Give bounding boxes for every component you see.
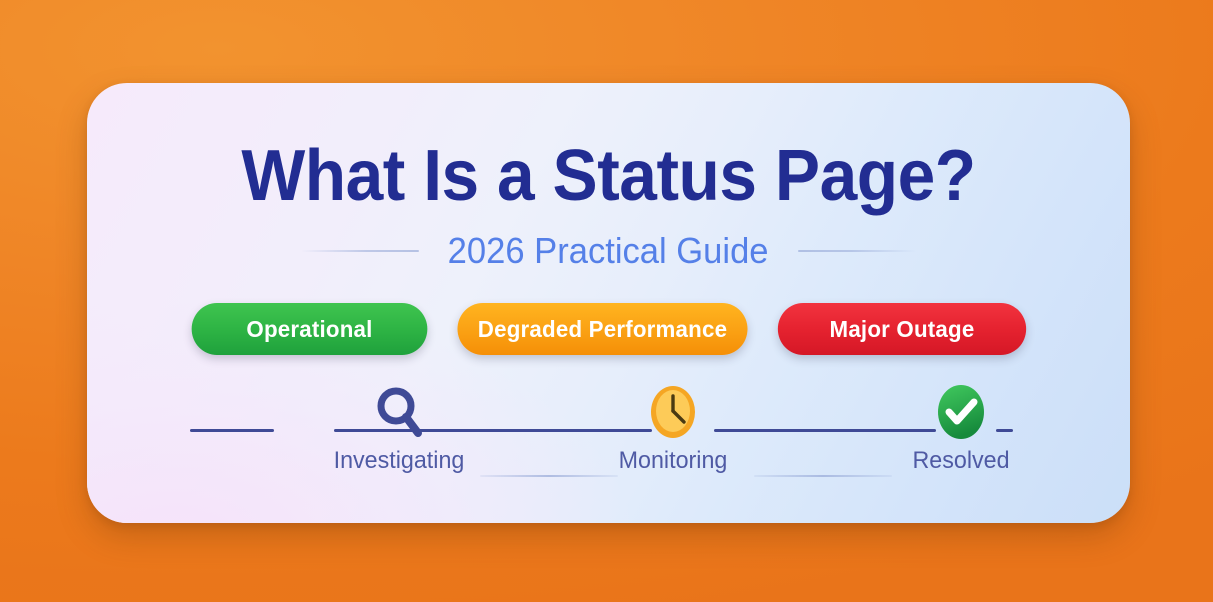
hero-card: What Is a Status Page? 2026 Practical Gu… xyxy=(87,83,1130,523)
page-subtitle: 2026 Practical Guide xyxy=(448,230,769,272)
timeline-label-connector xyxy=(754,475,892,477)
subtitle-rule-right xyxy=(798,250,916,252)
card-inner: What Is a Status Page? 2026 Practical Gu… xyxy=(87,83,1130,523)
check-circle-icon xyxy=(886,381,1036,443)
timeline-label-connector xyxy=(480,475,618,477)
page-title: What Is a Status Page? xyxy=(118,137,1098,215)
magnifier-icon xyxy=(324,381,474,443)
subtitle-row: 2026 Practical Guide xyxy=(87,230,1130,272)
timeline-step-resolved[interactable]: Resolved xyxy=(886,381,1036,475)
status-badge-operational[interactable]: Operational xyxy=(191,303,427,355)
timeline-line-segment xyxy=(190,429,274,432)
incident-timeline: Investigating Monitoring xyxy=(87,381,1130,491)
timeline-step-label-monitoring: Monitoring xyxy=(600,447,746,475)
clock-icon xyxy=(598,381,748,443)
status-badge-group: Operational Degraded Performance Major O… xyxy=(87,303,1130,355)
timeline-step-monitoring[interactable]: Monitoring xyxy=(598,381,748,475)
status-badge-degraded-performance[interactable]: Degraded Performance xyxy=(457,303,747,355)
timeline-step-label-investigating: Investigating xyxy=(326,447,472,475)
status-badge-major-outage[interactable]: Major Outage xyxy=(777,303,1025,355)
timeline-step-label-resolved: Resolved xyxy=(888,447,1034,475)
timeline-step-investigating[interactable]: Investigating xyxy=(324,381,474,475)
subtitle-rule-left xyxy=(301,250,419,252)
